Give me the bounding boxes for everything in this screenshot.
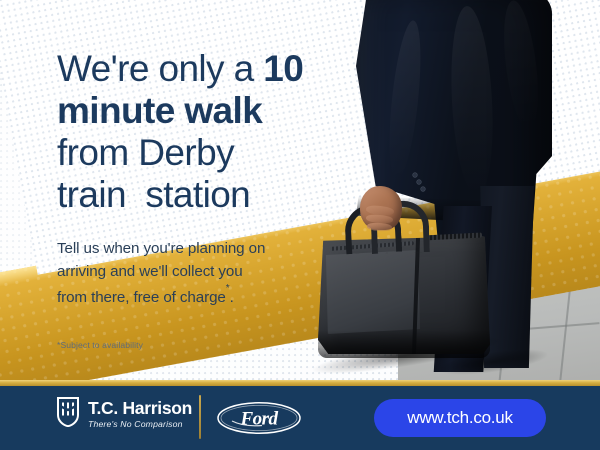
brand-tagline: There's No Comparison <box>88 420 192 429</box>
brand-lockup[interactable]: T.C. Harrison There's No Comparison <box>57 397 192 432</box>
brand-wordmark: T.C. Harrison There's No Comparison <box>88 400 192 429</box>
briefcase-front-panel <box>324 250 420 334</box>
advertisement-banner: We're only a 10 minute walk from Derby t… <box>0 0 600 450</box>
brand-name: T.C. Harrison <box>88 400 192 418</box>
brand-divider <box>199 395 201 439</box>
briefcase-bottom-shading <box>318 330 490 358</box>
sleeve-button <box>413 173 417 177</box>
sleeve-button <box>417 180 421 184</box>
shield-crest-icon <box>57 397 79 432</box>
footer-bar: T.C. Harrison There's No Comparison Ford… <box>0 386 600 450</box>
svg-text:Ford: Ford <box>239 409 278 430</box>
sleeve-button <box>421 187 425 191</box>
ford-oval-logo[interactable]: Ford <box>216 401 302 440</box>
website-url-label: www.tch.co.uk <box>407 408 512 428</box>
website-cta-button[interactable]: www.tch.co.uk <box>374 399 546 437</box>
